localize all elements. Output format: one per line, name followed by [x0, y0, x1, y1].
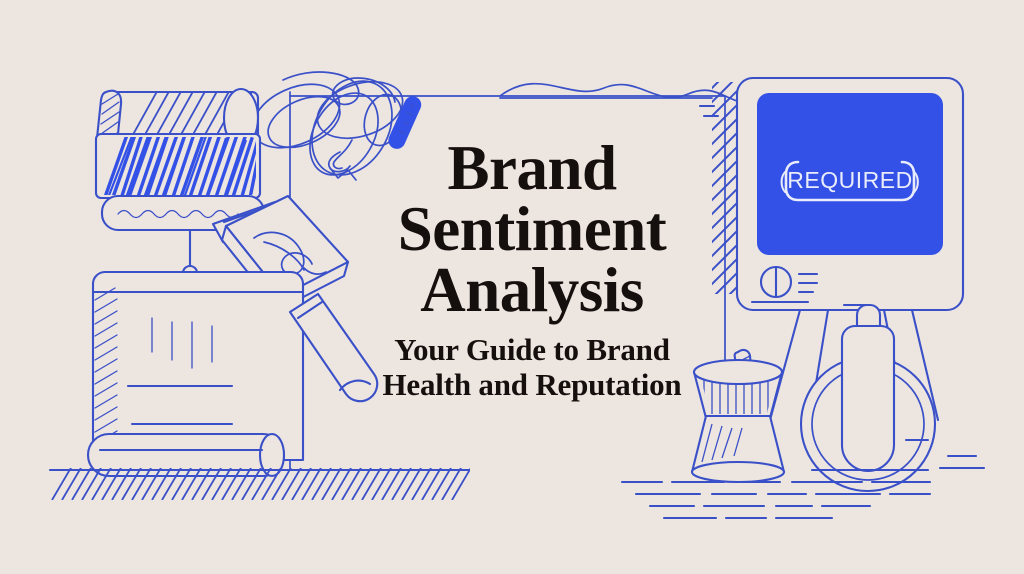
- title-line-2: Sentiment: [330, 199, 734, 260]
- page-subtitle: Your Guide to Brand Health and Reputatio…: [330, 333, 734, 402]
- status-badge-label: (REQUIRED): [779, 167, 921, 193]
- title-line-3: Analysis: [330, 260, 734, 321]
- title-line-1: Brand: [330, 138, 734, 199]
- page-title: Brand Sentiment Analysis: [330, 138, 734, 321]
- subtitle-line-2: Health and Reputation: [330, 368, 734, 403]
- corner-dashes: [700, 106, 718, 116]
- poster-canvas: .s{fill:none;stroke:#3a50c8;stroke-width…: [0, 0, 1024, 574]
- title-block: Brand Sentiment Analysis Your Guide to B…: [330, 138, 734, 403]
- status-badge: (REQUIRED): [762, 150, 938, 212]
- subtitle-line-1: Your Guide to Brand: [330, 333, 734, 368]
